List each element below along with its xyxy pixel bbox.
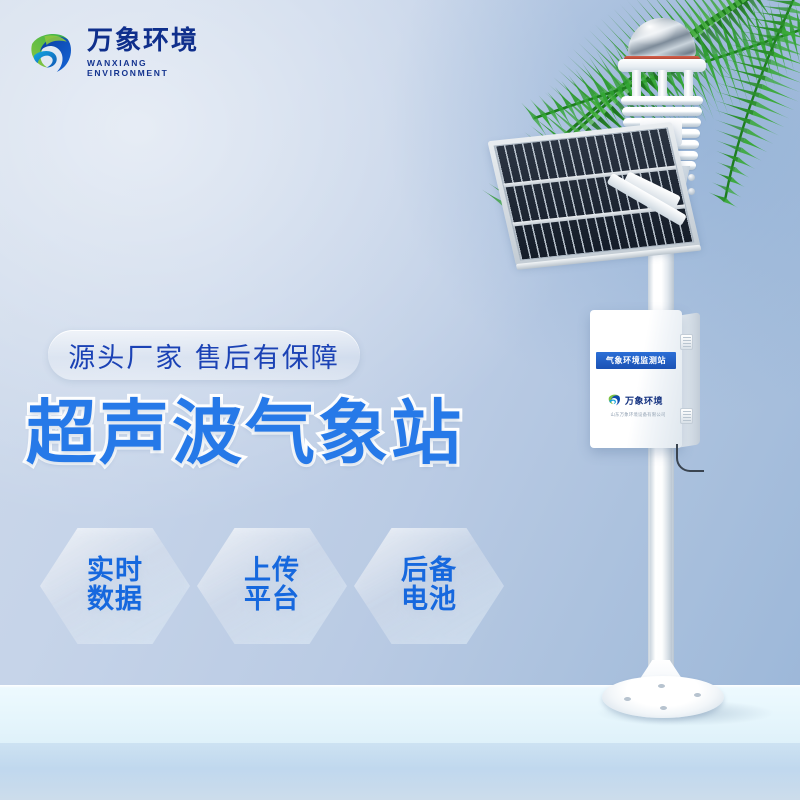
enclosure-company-name: 山东万象环境设备有限公司 bbox=[602, 412, 674, 418]
mounting-pole-lower bbox=[650, 430, 672, 692]
feature-hex-1: 实时 数据 bbox=[40, 528, 190, 644]
feature-1-line1: 实时 bbox=[87, 557, 143, 586]
feature-hexagons: 实时 数据 上传 平台 后备 电池 bbox=[40, 528, 510, 644]
enclosure-latch-top bbox=[680, 334, 693, 350]
guarantee-badge: 源头厂家 售后有保障 bbox=[48, 330, 360, 380]
enclosure-label-text: 气象环境监测站 bbox=[606, 355, 666, 366]
enclosure-latch-bottom bbox=[680, 408, 693, 424]
feature-hex-3: 后备 电池 bbox=[354, 528, 504, 644]
product-image: 气象环境监测站 万象环境 山东万象环境设备有限公司 bbox=[480, 0, 800, 760]
feature-2-line1: 上传 bbox=[244, 557, 300, 586]
feature-3-line1: 后备 bbox=[401, 557, 457, 586]
guarantee-badge-text: 源头厂家 售后有保障 bbox=[68, 336, 340, 375]
enclosure-brand-name: 万象环境 bbox=[625, 394, 663, 407]
product-poster: 万象环境 WANXIANG ENVIRONMENT bbox=[0, 0, 800, 800]
swirl-globe-icon bbox=[22, 25, 78, 81]
ultrasonic-sensor-dome bbox=[628, 18, 696, 58]
feature-1-line2: 数据 bbox=[87, 586, 143, 615]
enclosure-label-strip: 气象环境监测站 bbox=[596, 352, 676, 369]
brand-logo: 万象环境 WANXIANG ENVIRONMENT bbox=[22, 22, 232, 84]
base-flange bbox=[602, 676, 724, 718]
brand-name-cn: 万象环境 bbox=[87, 28, 232, 55]
enclosure-cable bbox=[676, 444, 704, 472]
brand-name-en: WANXIANG ENVIRONMENT bbox=[87, 58, 232, 78]
feature-2-line2: 平台 bbox=[244, 586, 300, 615]
control-enclosure: 气象环境监测站 万象环境 山东万象环境设备有限公司 bbox=[590, 310, 682, 448]
page-title: 超声波气象站 bbox=[26, 398, 464, 468]
enclosure-brand-logo: 万象环境 bbox=[606, 392, 668, 408]
feature-3-line2: 电池 bbox=[401, 586, 457, 615]
feature-hex-2: 上传 平台 bbox=[197, 528, 347, 644]
swirl-globe-icon-small bbox=[606, 392, 622, 408]
